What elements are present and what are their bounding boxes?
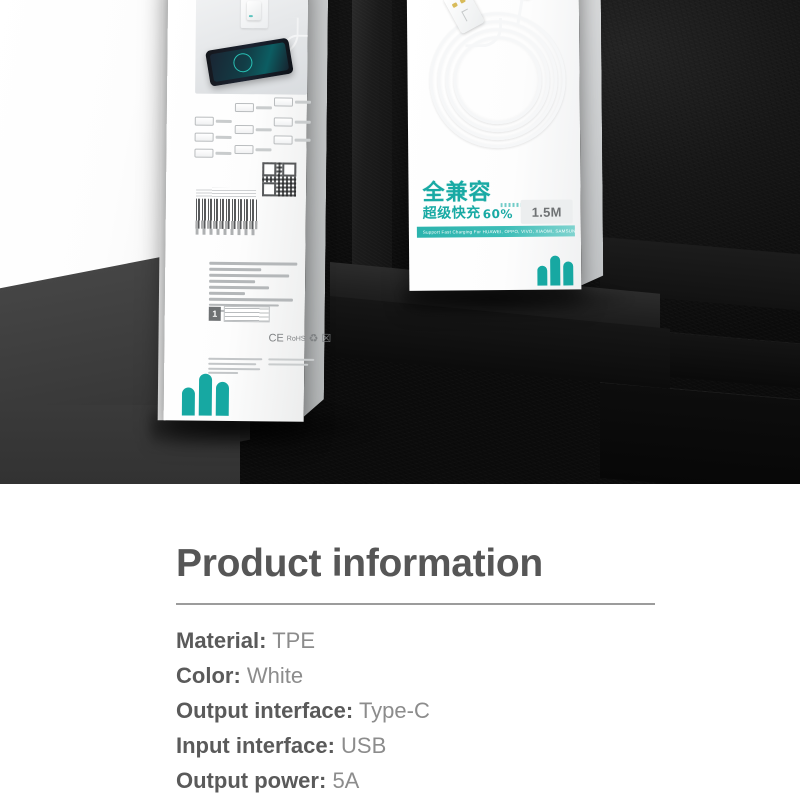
spec-value-output-interface: Type-C: [359, 698, 430, 723]
left-box-back-panel: USB TO TYPE-C: [164, 0, 309, 422]
spec-row-material: Material: TPE: [176, 623, 736, 658]
spec-row-output-interface: Output interface: Type-C: [176, 693, 736, 728]
spec-label-input-interface: Input interface:: [176, 733, 335, 758]
barcode-caption: [196, 188, 256, 198]
cable-loop-inner: [453, 36, 542, 125]
warranty-badge: 1: [209, 306, 271, 322]
percent-label: 60%: [483, 208, 513, 220]
right-box-brand-logo: [537, 245, 581, 285]
spec-value-color: White: [247, 663, 303, 688]
smartphone: [205, 38, 294, 87]
tagline-text: Support Fast Charging For HUAWEI, OPPO, …: [417, 228, 575, 234]
spec-row-output-power: Output power: 5A: [176, 763, 736, 798]
legal-text-block-right: [268, 358, 314, 368]
spec-row-input-interface: Input interface: USB: [176, 728, 736, 763]
spec-label-output-interface: Output interface:: [176, 698, 353, 723]
spec-value-output-power: 5A: [332, 768, 359, 793]
product-detail-page: coiled-white-usb-a-to-type-c-cable: [0, 0, 800, 800]
recycling-mark-icon: ♻: [308, 333, 318, 344]
retail-box-left: USB TO TYPE-C: [148, 0, 325, 429]
retail-box-right: coiled-white-usb-a-to-type-c-cable: [407, 0, 610, 299]
warranty-text-lines: [224, 305, 270, 321]
compatibility-chip-grid: [194, 104, 309, 161]
product-hero-photo: coiled-white-usb-a-to-type-c-cable: [0, 0, 800, 484]
right-box-headline-cn: 全兼容: [422, 182, 491, 205]
ce-mark-icon: CE: [268, 333, 283, 344]
rohs-mark-icon: RoHS: [287, 335, 306, 342]
subhead-cn-text: 超级快充: [423, 206, 481, 221]
page-title: Product information: [176, 542, 543, 586]
qr-code: [262, 162, 296, 196]
wall-ledge-lower: [600, 383, 800, 484]
barcode-digits: [196, 229, 258, 236]
usage-scene-photo: [195, 0, 308, 95]
barcode: [196, 199, 258, 230]
cable-length-badge: 1.5M: [521, 199, 573, 223]
weee-mark-icon: ☒: [321, 333, 331, 344]
tagline-strip: Support Fast Charging For HUAWEI, OPPO, …: [417, 225, 575, 237]
spec-row-color: Color: White: [176, 658, 736, 693]
cable-length-label: 1.5M: [532, 204, 562, 219]
percent-caption-rule: [501, 203, 523, 207]
spec-list: Material: TPE Color: White Output interf…: [176, 623, 736, 798]
cable-coil-illustration: [423, 0, 567, 167]
spec-value-input-interface: USB: [341, 733, 386, 758]
dark-pillar: [352, 0, 392, 304]
title-divider: [176, 603, 655, 605]
spec-value-material: TPE: [272, 628, 315, 653]
right-box-side-panel: [579, 0, 604, 285]
right-box-subhead-cn: 超级快充 60%: [423, 206, 513, 221]
pillar-texture: [352, 0, 392, 304]
left-box-brand-logo: [182, 365, 245, 416]
product-information-section: Product information Material: TPE Color:…: [0, 484, 800, 800]
certification-marks: CE RoHS ♻ ☒: [268, 330, 338, 347]
spec-label-output-power: Output power:: [176, 768, 326, 793]
charger-led-icon: [249, 15, 253, 17]
spec-label-material: Material:: [176, 628, 266, 653]
warranty-number: 1: [209, 306, 221, 320]
spec-label-color: Color:: [176, 663, 241, 688]
right-box-front-panel: coiled-white-usb-a-to-type-c-cable: [407, 0, 582, 291]
